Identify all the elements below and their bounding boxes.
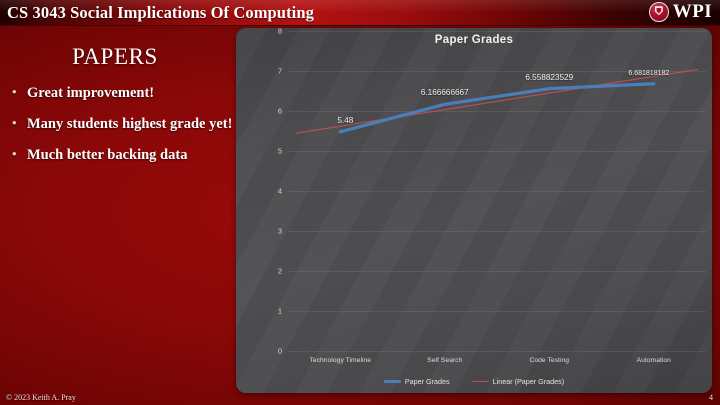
y-axis-tick-label: 6 xyxy=(278,107,282,116)
legend-item[interactable]: Linear (Paper Grades) xyxy=(472,377,565,386)
slide-title-bar: CS 3043 Social Implications Of Computing… xyxy=(0,0,720,26)
data-point-label: 6.166666667 xyxy=(421,88,469,97)
bullet-list: Great improvement! Many students highest… xyxy=(8,84,236,177)
legend-label: Linear (Paper Grades) xyxy=(493,377,565,386)
wpi-logo: WPI xyxy=(649,2,712,22)
data-point-label: 6.681818182 xyxy=(628,70,669,77)
data-point-label: 5.48 xyxy=(337,116,353,125)
series-line-paper-grades xyxy=(340,84,654,132)
legend-swatch xyxy=(384,380,401,383)
trendline-linear-paper-grades xyxy=(296,69,697,133)
chart-legend: Paper GradesLinear (Paper Grades) xyxy=(236,377,712,386)
data-point-label: 6.558823529 xyxy=(525,73,573,82)
footer-page-number: 4 xyxy=(709,393,713,402)
y-axis-tick-label: 4 xyxy=(278,187,282,196)
y-axis-tick-label: 5 xyxy=(278,147,282,156)
page-title: PAPERS xyxy=(0,44,230,70)
legend-item[interactable]: Paper Grades xyxy=(384,377,450,386)
x-axis-tick-label: Code Testing xyxy=(529,357,569,364)
legend-label: Paper Grades xyxy=(405,377,450,386)
wpi-wordmark: WPI xyxy=(673,2,712,22)
wpi-seal-icon xyxy=(649,2,669,22)
chart-plot-area: 012345678 Technology TimelineSelf Search… xyxy=(288,31,706,351)
x-axis-tick-label: Self Search xyxy=(427,357,462,364)
presentation-slide: CS 3043 Social Implications Of Computing… xyxy=(0,0,720,405)
y-axis-tick-label: 1 xyxy=(278,307,282,316)
x-axis-tick-label: Automation xyxy=(637,357,671,364)
list-item: Much better backing data xyxy=(8,146,236,164)
footer-copyright: © 2023 Keith A. Pray xyxy=(6,393,76,402)
y-axis-tick-label: 2 xyxy=(278,267,282,276)
list-item: Great improvement! xyxy=(8,84,236,102)
chart-panel: Paper Grades 012345678 Technology Timeli… xyxy=(236,28,712,393)
y-axis-tick-label: 7 xyxy=(278,67,282,76)
chart-series-lines xyxy=(288,31,706,351)
legend-swatch xyxy=(472,381,489,382)
y-axis-tick-label: 8 xyxy=(278,28,282,36)
gridline xyxy=(288,351,706,352)
y-axis-tick-label: 0 xyxy=(278,347,282,356)
y-axis-tick-label: 3 xyxy=(278,227,282,236)
x-axis-tick-label: Technology Timeline xyxy=(309,357,371,364)
slide-course-title: CS 3043 Social Implications Of Computing xyxy=(7,3,314,23)
list-item: Many students highest grade yet! xyxy=(8,115,236,133)
